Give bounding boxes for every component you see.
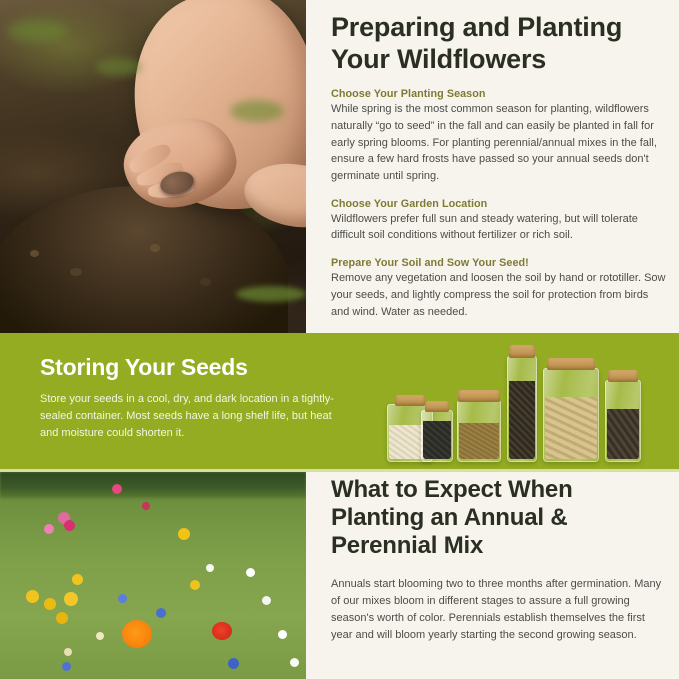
flower-blue-4 — [62, 662, 71, 671]
flower-yellow-4 — [64, 592, 78, 606]
subheading-prepare-soil: Prepare Your Soil and Sow Your Seed! — [331, 257, 669, 269]
storing-heading: Storing Your Seeds — [40, 355, 340, 380]
jar-2-contents — [423, 421, 451, 459]
cork-5 — [547, 358, 595, 370]
storing-text-column: Storing Your Seeds Store your seeds in a… — [40, 355, 340, 442]
page-title: Preparing and Planting Your Wildflowers — [331, 12, 669, 75]
soil-clod-4 — [200, 278, 211, 286]
flower-yellow-3 — [44, 598, 56, 610]
jar-3-contents — [459, 423, 499, 459]
expect-heading: What to Expect When Planting an Annual &… — [331, 476, 669, 560]
jar-6 — [605, 380, 641, 462]
wildflower-meadow-image — [0, 472, 306, 679]
flower-white-1 — [246, 568, 255, 577]
flower-pink-1 — [112, 484, 122, 494]
body-prepare-soil: Remove any vegetation and loosen the soi… — [331, 270, 669, 320]
flower-red-1 — [142, 502, 150, 510]
subheading-garden-location: Choose Your Garden Location — [331, 198, 669, 210]
soil-clod-1 — [30, 250, 39, 257]
flower-yellow-6 — [72, 574, 83, 585]
flower-pink-3 — [64, 520, 75, 531]
infographic-page: Preparing and Planting Your Wildflowers … — [0, 0, 679, 679]
expect-text-column: What to Expect When Planting an Annual &… — [331, 476, 679, 644]
section-storing-your-seeds: Storing Your Seeds Store your seeds in a… — [0, 333, 679, 472]
grass-blur-2 — [96, 58, 142, 76]
grass-blur-4 — [236, 286, 306, 302]
subheading-planting-season: Choose Your Planting Season — [331, 88, 669, 100]
grass-blur-1 — [8, 20, 68, 42]
cork-2 — [425, 401, 449, 412]
jar-4-contents — [509, 381, 535, 459]
flower-pink-4 — [44, 524, 54, 534]
flower-yellow-2 — [26, 590, 39, 603]
hands-sowing-seeds-image — [0, 0, 306, 333]
jar-6-contents — [607, 409, 639, 459]
flower-white-3 — [278, 630, 287, 639]
jar-5 — [543, 368, 599, 462]
body-planting-season: While spring is the most common season f… — [331, 101, 669, 185]
flower-yellow-1 — [178, 528, 190, 540]
jar-3 — [457, 400, 501, 462]
cork-3 — [458, 390, 500, 402]
flower-yellow-7 — [190, 580, 200, 590]
expect-body: Annuals start blooming two to three mont… — [331, 576, 669, 644]
flower-cream-2 — [64, 648, 72, 656]
flower-blue-2 — [118, 594, 127, 603]
background-tree-line — [0, 472, 306, 498]
flower-white-2 — [262, 596, 271, 605]
flower-blue-1 — [156, 608, 166, 618]
preparing-text-column: Preparing and Planting Your Wildflowers … — [331, 0, 679, 333]
flower-cream-1 — [96, 632, 104, 640]
flower-red-poppy — [212, 622, 232, 640]
soil-clod-2 — [70, 268, 82, 276]
section-preparing-and-planting: Preparing and Planting Your Wildflowers … — [0, 0, 679, 333]
flower-yellow-5 — [56, 612, 68, 624]
cork-4 — [509, 345, 535, 358]
jar-4 — [507, 356, 537, 462]
storing-body: Store your seeds in a cool, dry, and dar… — [40, 391, 340, 441]
flower-white-5 — [290, 658, 299, 667]
section-what-to-expect: What to Expect When Planting an Annual &… — [0, 472, 679, 679]
cork-6 — [608, 370, 638, 382]
seed-jars-image — [383, 338, 675, 468]
body-garden-location: Wildflowers prefer full sun and steady w… — [331, 211, 669, 244]
jar-5-contents — [545, 397, 597, 459]
flower-orange-poppy — [122, 620, 152, 648]
flower-blue-3 — [228, 658, 239, 669]
cork-1 — [395, 395, 425, 406]
soil-clod-3 — [150, 244, 160, 252]
flower-white-4 — [206, 564, 214, 572]
jar-2 — [421, 410, 453, 462]
grass-blur-3 — [230, 100, 284, 122]
